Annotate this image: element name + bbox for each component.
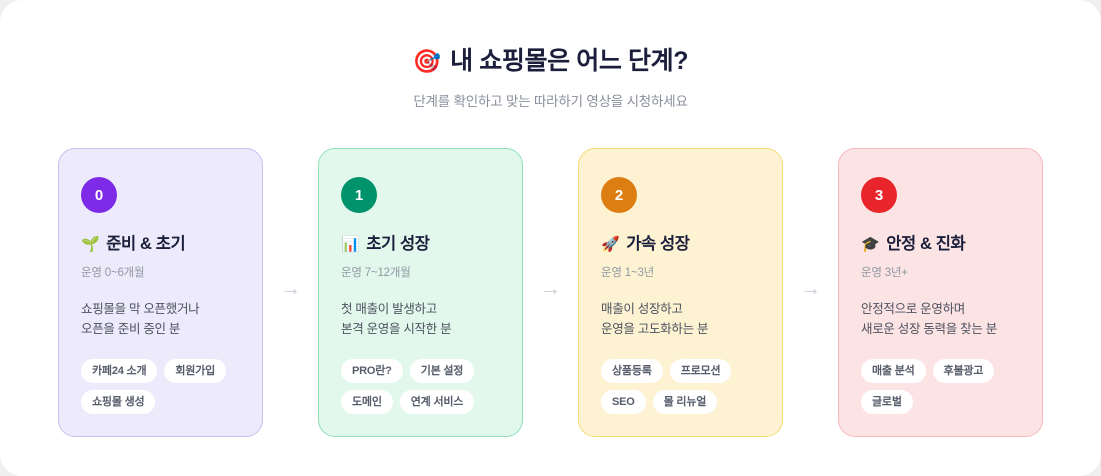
stage-name: 📊초기 성장	[341, 235, 500, 255]
stage-period: 운영 3년+	[861, 264, 1020, 280]
stage-description: 쇼핑몰을 막 오픈했거나오픈을 준비 중인 분	[81, 299, 240, 340]
stage-tag[interactable]: 후불광고	[933, 359, 995, 383]
page-title: 🎯 내 쇼핑몰은 어느 단계?	[0, 46, 1101, 77]
page-title-text: 내 쇼핑몰은 어느 단계?	[450, 46, 688, 77]
stage-card-0[interactable]: 0🌱준비 & 초기운영 0~6개월쇼핑몰을 막 오픈했거나오픈을 준비 중인 분…	[58, 148, 263, 437]
stage-badge: 2	[601, 177, 637, 213]
stage-tag[interactable]: 기본 설정	[410, 359, 475, 383]
stage-guide-panel: 🎯 내 쇼핑몰은 어느 단계? 단계를 확인하고 맞는 따라하기 영상을 시청하…	[0, 0, 1101, 476]
stage-name: 🌱준비 & 초기	[81, 235, 240, 255]
stage-tag[interactable]: 도메인	[341, 390, 393, 414]
stage-description: 첫 매출이 발생하고본격 운영을 시작한 분	[341, 299, 500, 340]
stage-name-text: 초기 성장	[366, 235, 429, 255]
stage-name: 🚀가속 성장	[601, 235, 760, 255]
stage-tag-list: 카페24 소개회원가입쇼핑몰 생성	[81, 359, 240, 414]
stage-tag[interactable]: 카페24 소개	[81, 359, 157, 383]
target-icon: 🎯	[413, 50, 441, 73]
stage-tag-list: 상품등록프로모션SEO몰 리뉴얼	[601, 359, 760, 414]
stage-card-2[interactable]: 2🚀가속 성장운영 1~3년매출이 성장하고운영을 고도화하는 분상품등록프로모…	[578, 148, 783, 437]
stage-badge: 0	[81, 177, 117, 213]
stage-tag[interactable]: 매출 분석	[861, 359, 926, 383]
stage-name-text: 가속 성장	[626, 235, 689, 255]
stage-description-line: 운영을 고도화하는 분	[601, 319, 760, 339]
stage-badge: 1	[341, 177, 377, 213]
stage-card-1[interactable]: 1📊초기 성장운영 7~12개월첫 매출이 발생하고본격 운영을 시작한 분PR…	[318, 148, 523, 437]
stage-name: 🎓안정 & 진화	[861, 235, 1020, 255]
stage-tag-list: PRO란?기본 설정도메인연계 서비스	[341, 359, 500, 414]
stage-tag[interactable]: 프로모션	[670, 359, 732, 383]
bar-chart-icon: 📊	[341, 237, 359, 252]
stage-description-line: 새로운 성장 동력을 찾는 분	[861, 319, 1020, 339]
stage-description-line: 첫 매출이 발생하고	[341, 299, 500, 319]
seedling-icon: 🌱	[81, 237, 99, 252]
stage-period: 운영 7~12개월	[341, 264, 500, 280]
graduation-cap-icon: 🎓	[861, 237, 879, 252]
stage-description: 매출이 성장하고운영을 고도화하는 분	[601, 299, 760, 340]
stage-description: 안정적으로 운영하며새로운 성장 동력을 찾는 분	[861, 299, 1020, 340]
stage-tag[interactable]: PRO란?	[341, 359, 403, 383]
stage-tag[interactable]: 상품등록	[601, 359, 663, 383]
arrow-right-icon: →	[263, 148, 318, 428]
stage-tag[interactable]: 회원가입	[164, 359, 226, 383]
arrow-right-icon: →	[783, 148, 838, 428]
stage-description-line: 본격 운영을 시작한 분	[341, 319, 500, 339]
stage-description-line: 오픈을 준비 중인 분	[81, 319, 240, 339]
stage-row: 0🌱준비 & 초기운영 0~6개월쇼핑몰을 막 오픈했거나오픈을 준비 중인 분…	[0, 148, 1101, 437]
rocket-icon: 🚀	[601, 237, 619, 252]
stage-tag[interactable]: 쇼핑몰 생성	[81, 390, 155, 414]
stage-period: 운영 1~3년	[601, 264, 760, 280]
panel-header: 🎯 내 쇼핑몰은 어느 단계? 단계를 확인하고 맞는 따라하기 영상을 시청하…	[0, 0, 1101, 110]
stage-badge: 3	[861, 177, 897, 213]
stage-tag[interactable]: 글로벌	[861, 390, 913, 414]
stage-name-text: 안정 & 진화	[886, 235, 965, 255]
stage-tag[interactable]: 연계 서비스	[400, 390, 474, 414]
stage-description-line: 매출이 성장하고	[601, 299, 760, 319]
stage-description-line: 쇼핑몰을 막 오픈했거나	[81, 299, 240, 319]
stage-tag-list: 매출 분석후불광고글로벌	[861, 359, 1020, 414]
stage-name-text: 준비 & 초기	[106, 235, 185, 255]
stage-description-line: 안정적으로 운영하며	[861, 299, 1020, 319]
stage-tag[interactable]: 몰 리뉴얼	[653, 390, 718, 414]
stage-tag[interactable]: SEO	[601, 390, 646, 414]
page-subtitle: 단계를 확인하고 맞는 따라하기 영상을 시청하세요	[0, 90, 1101, 110]
arrow-right-icon: →	[523, 148, 578, 428]
stage-card-3[interactable]: 3🎓안정 & 진화운영 3년+안정적으로 운영하며새로운 성장 동력을 찾는 분…	[838, 148, 1043, 437]
stage-period: 운영 0~6개월	[81, 264, 240, 280]
